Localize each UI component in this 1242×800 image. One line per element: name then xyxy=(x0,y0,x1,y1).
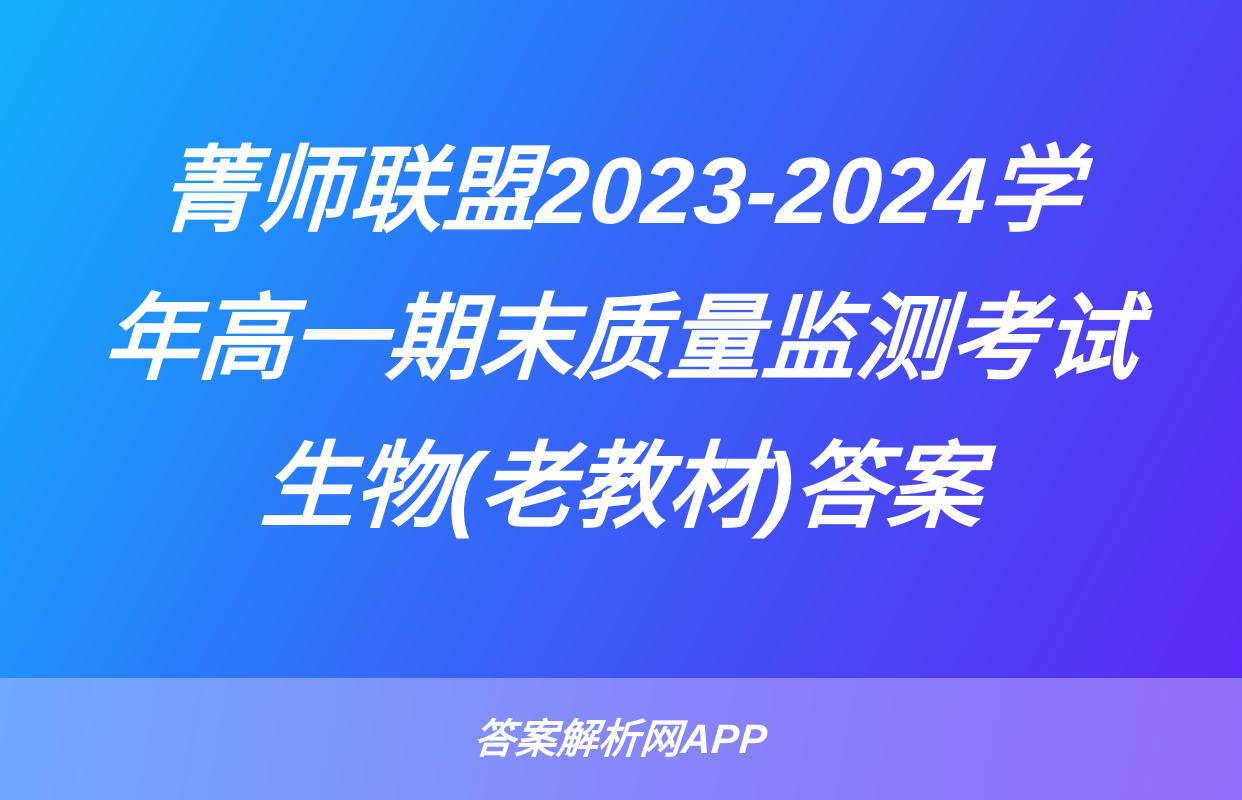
watermark-app-label: 答案解析网APP xyxy=(473,719,770,760)
exam-title-line-1: 菁师联盟2023-2024学 xyxy=(157,117,1084,265)
exam-title-line-3: 生物(老教材)答案 xyxy=(257,413,985,561)
exam-title-block: 菁师联盟2023-2024学 年高一期末质量监测考试 生物(老教材)答案 xyxy=(0,0,1242,678)
watermark-band: 答案解析网APP xyxy=(0,678,1242,800)
cover-image-canvas: 菁师联盟2023-2024学 年高一期末质量监测考试 生物(老教材)答案 答案解… xyxy=(0,0,1242,800)
exam-title-line-2: 年高一期末质量监测考试 xyxy=(100,265,1142,413)
